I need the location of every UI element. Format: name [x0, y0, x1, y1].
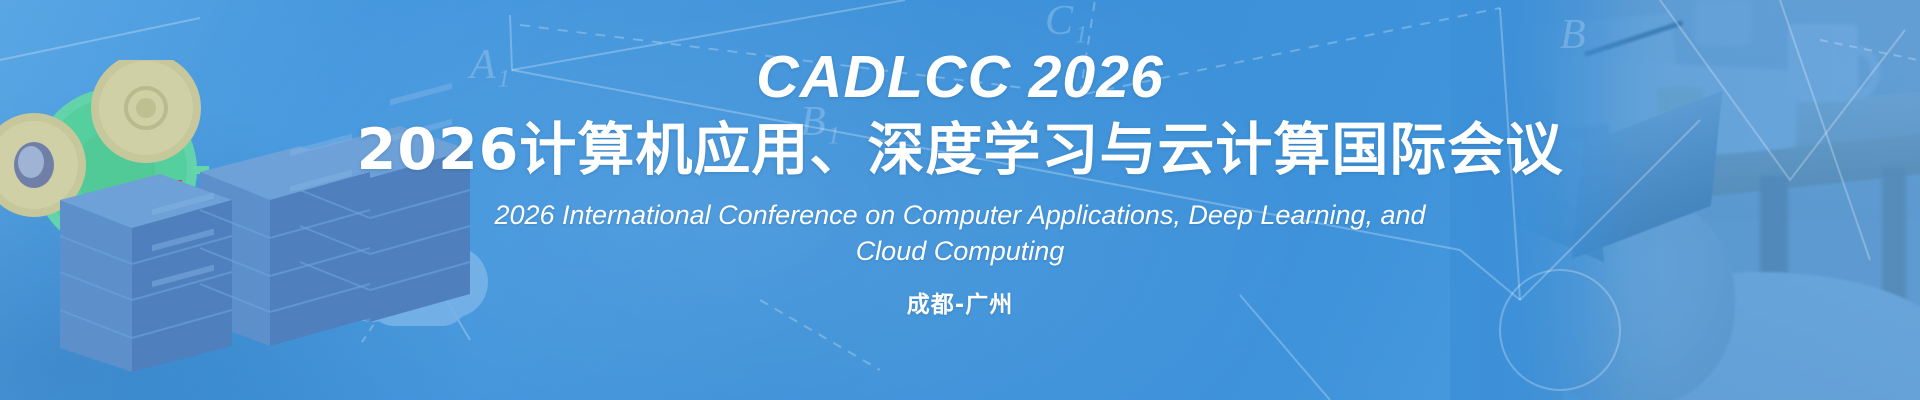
subtitle-line-1: 2026 International Conference on Compute…	[494, 197, 1425, 233]
conference-location: 成都-广州	[907, 285, 1014, 319]
subtitle-line-2: Cloud Computing	[494, 233, 1425, 269]
conference-title-chinese: 2026计算机应用、深度学习与云计算国际会议	[357, 119, 1564, 183]
conference-acronym: CADLCC 2026	[756, 48, 1164, 107]
conference-subtitle-english: 2026 International Conference on Compute…	[494, 197, 1425, 269]
conference-banner: A₁ C₁ B₁ B	[0, 0, 1920, 400]
banner-content: CADLCC 2026 2026计算机应用、深度学习与云计算国际会议 2026 …	[0, 0, 1920, 400]
